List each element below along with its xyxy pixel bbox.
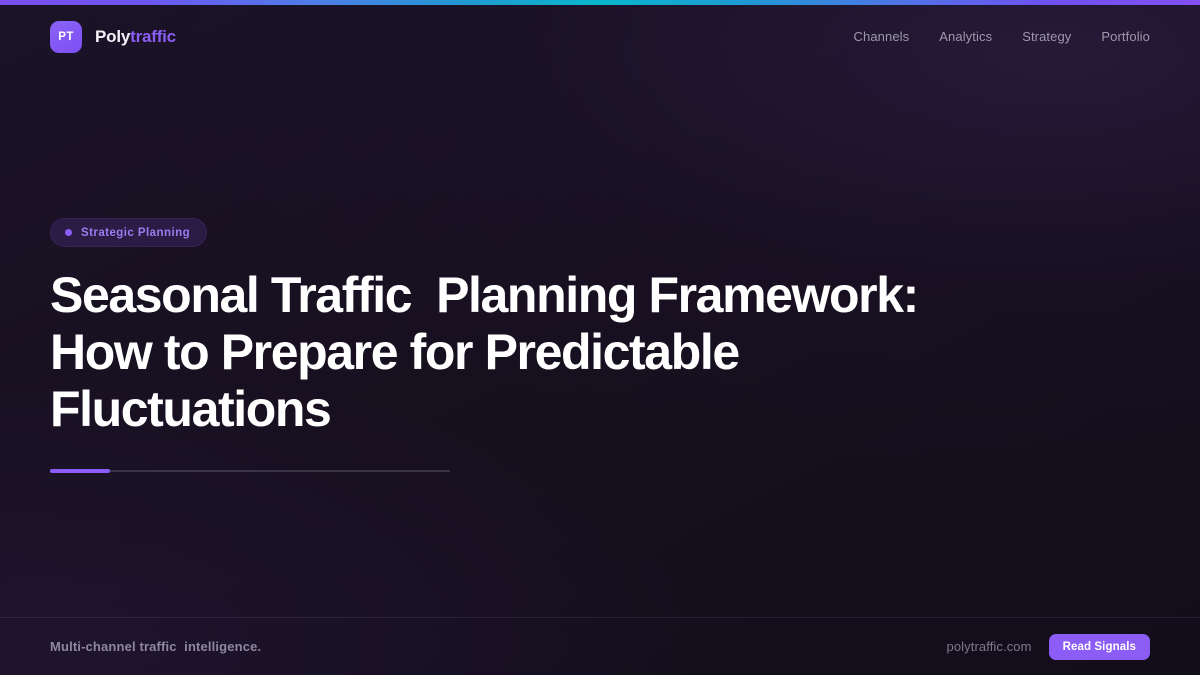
main-navigation: Channels Analytics Strategy Portfolio	[854, 29, 1150, 44]
brand-name-part-one: Poly	[95, 27, 130, 46]
nav-item-strategy[interactable]: Strategy	[1022, 29, 1071, 44]
category-badge: Strategic Planning	[50, 218, 207, 247]
nav-item-channels[interactable]: Channels	[854, 29, 910, 44]
site-header: PT Polytraffic Channels Analytics Strate…	[0, 5, 1200, 68]
nav-item-portfolio[interactable]: Portfolio	[1101, 29, 1150, 44]
read-signals-button[interactable]: Read Signals	[1049, 634, 1150, 660]
footer-actions: polytraffic.com Read Signals	[947, 634, 1151, 660]
hero-content: Strategic Planning Seasonal Traffic Plan…	[50, 218, 1050, 472]
brand-mark-icon: PT	[50, 21, 82, 53]
brand-name: Polytraffic	[95, 27, 176, 47]
brand-logo[interactable]: PT Polytraffic	[50, 21, 176, 53]
badge-dot-icon	[65, 229, 72, 236]
nav-item-analytics[interactable]: Analytics	[939, 29, 992, 44]
hero-slide: PT Polytraffic Channels Analytics Strate…	[0, 0, 1200, 675]
footer-domain: polytraffic.com	[947, 639, 1032, 654]
site-footer: Multi-channel traffic intelligence. poly…	[0, 617, 1200, 675]
category-badge-label: Strategic Planning	[81, 227, 190, 239]
page-title: Seasonal Traffic Planning Framework: How…	[50, 267, 990, 438]
brand-name-part-two: traffic	[130, 27, 176, 46]
title-underline-divider	[50, 470, 450, 472]
footer-tagline: Multi-channel traffic intelligence.	[50, 639, 261, 654]
